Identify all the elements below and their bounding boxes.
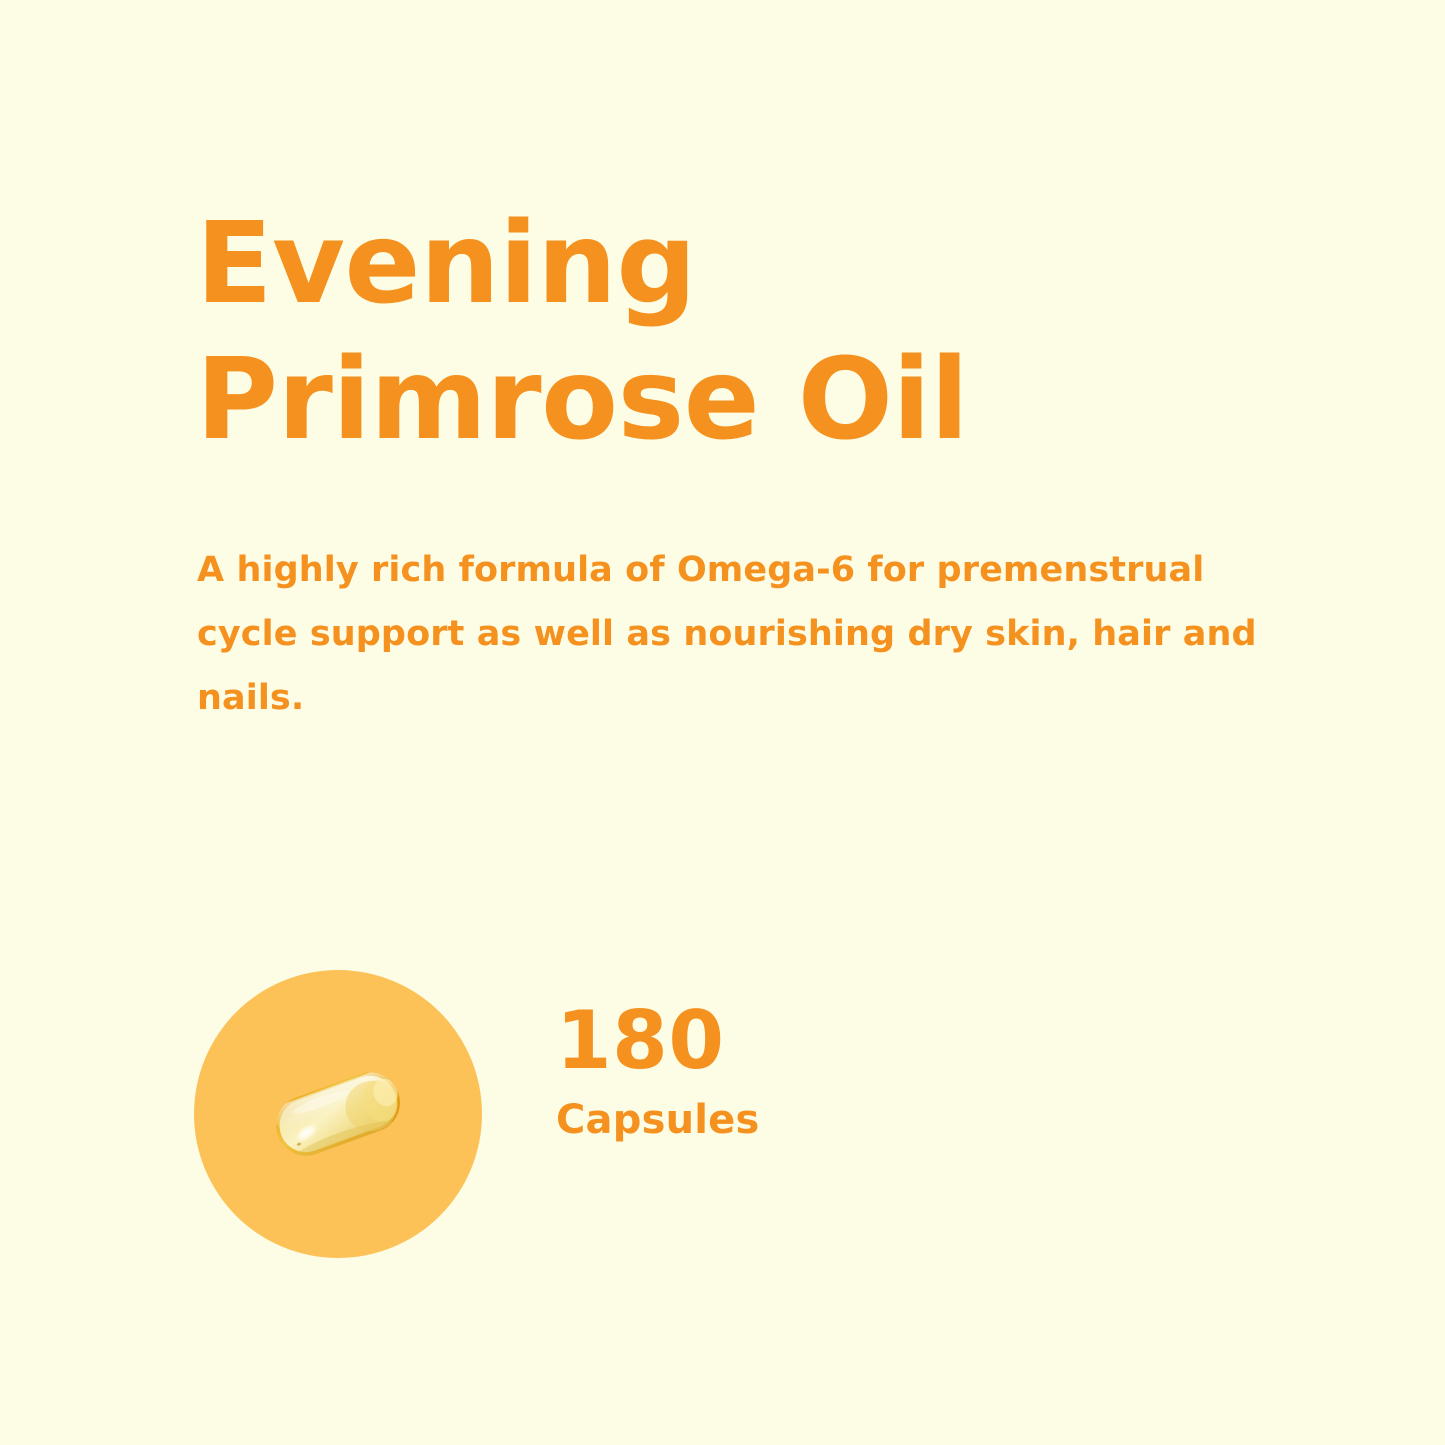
product-description: A highly rich formula of Omega-6 for pre… [197,538,1307,730]
capsule-count-block: 180 Capsules [194,970,814,1260]
capsule-count-number: 180 [556,998,806,1084]
capsule-count-text: 180 Capsules [556,998,806,1142]
page-title: Evening Primrose Oil [196,196,1276,468]
capsule-badge [194,970,482,1258]
product-info-panel: Evening Primrose Oil A highly rich formu… [0,0,1445,1445]
softgel-capsule-icon [194,970,482,1258]
capsule-count-unit: Capsules [556,1098,806,1142]
